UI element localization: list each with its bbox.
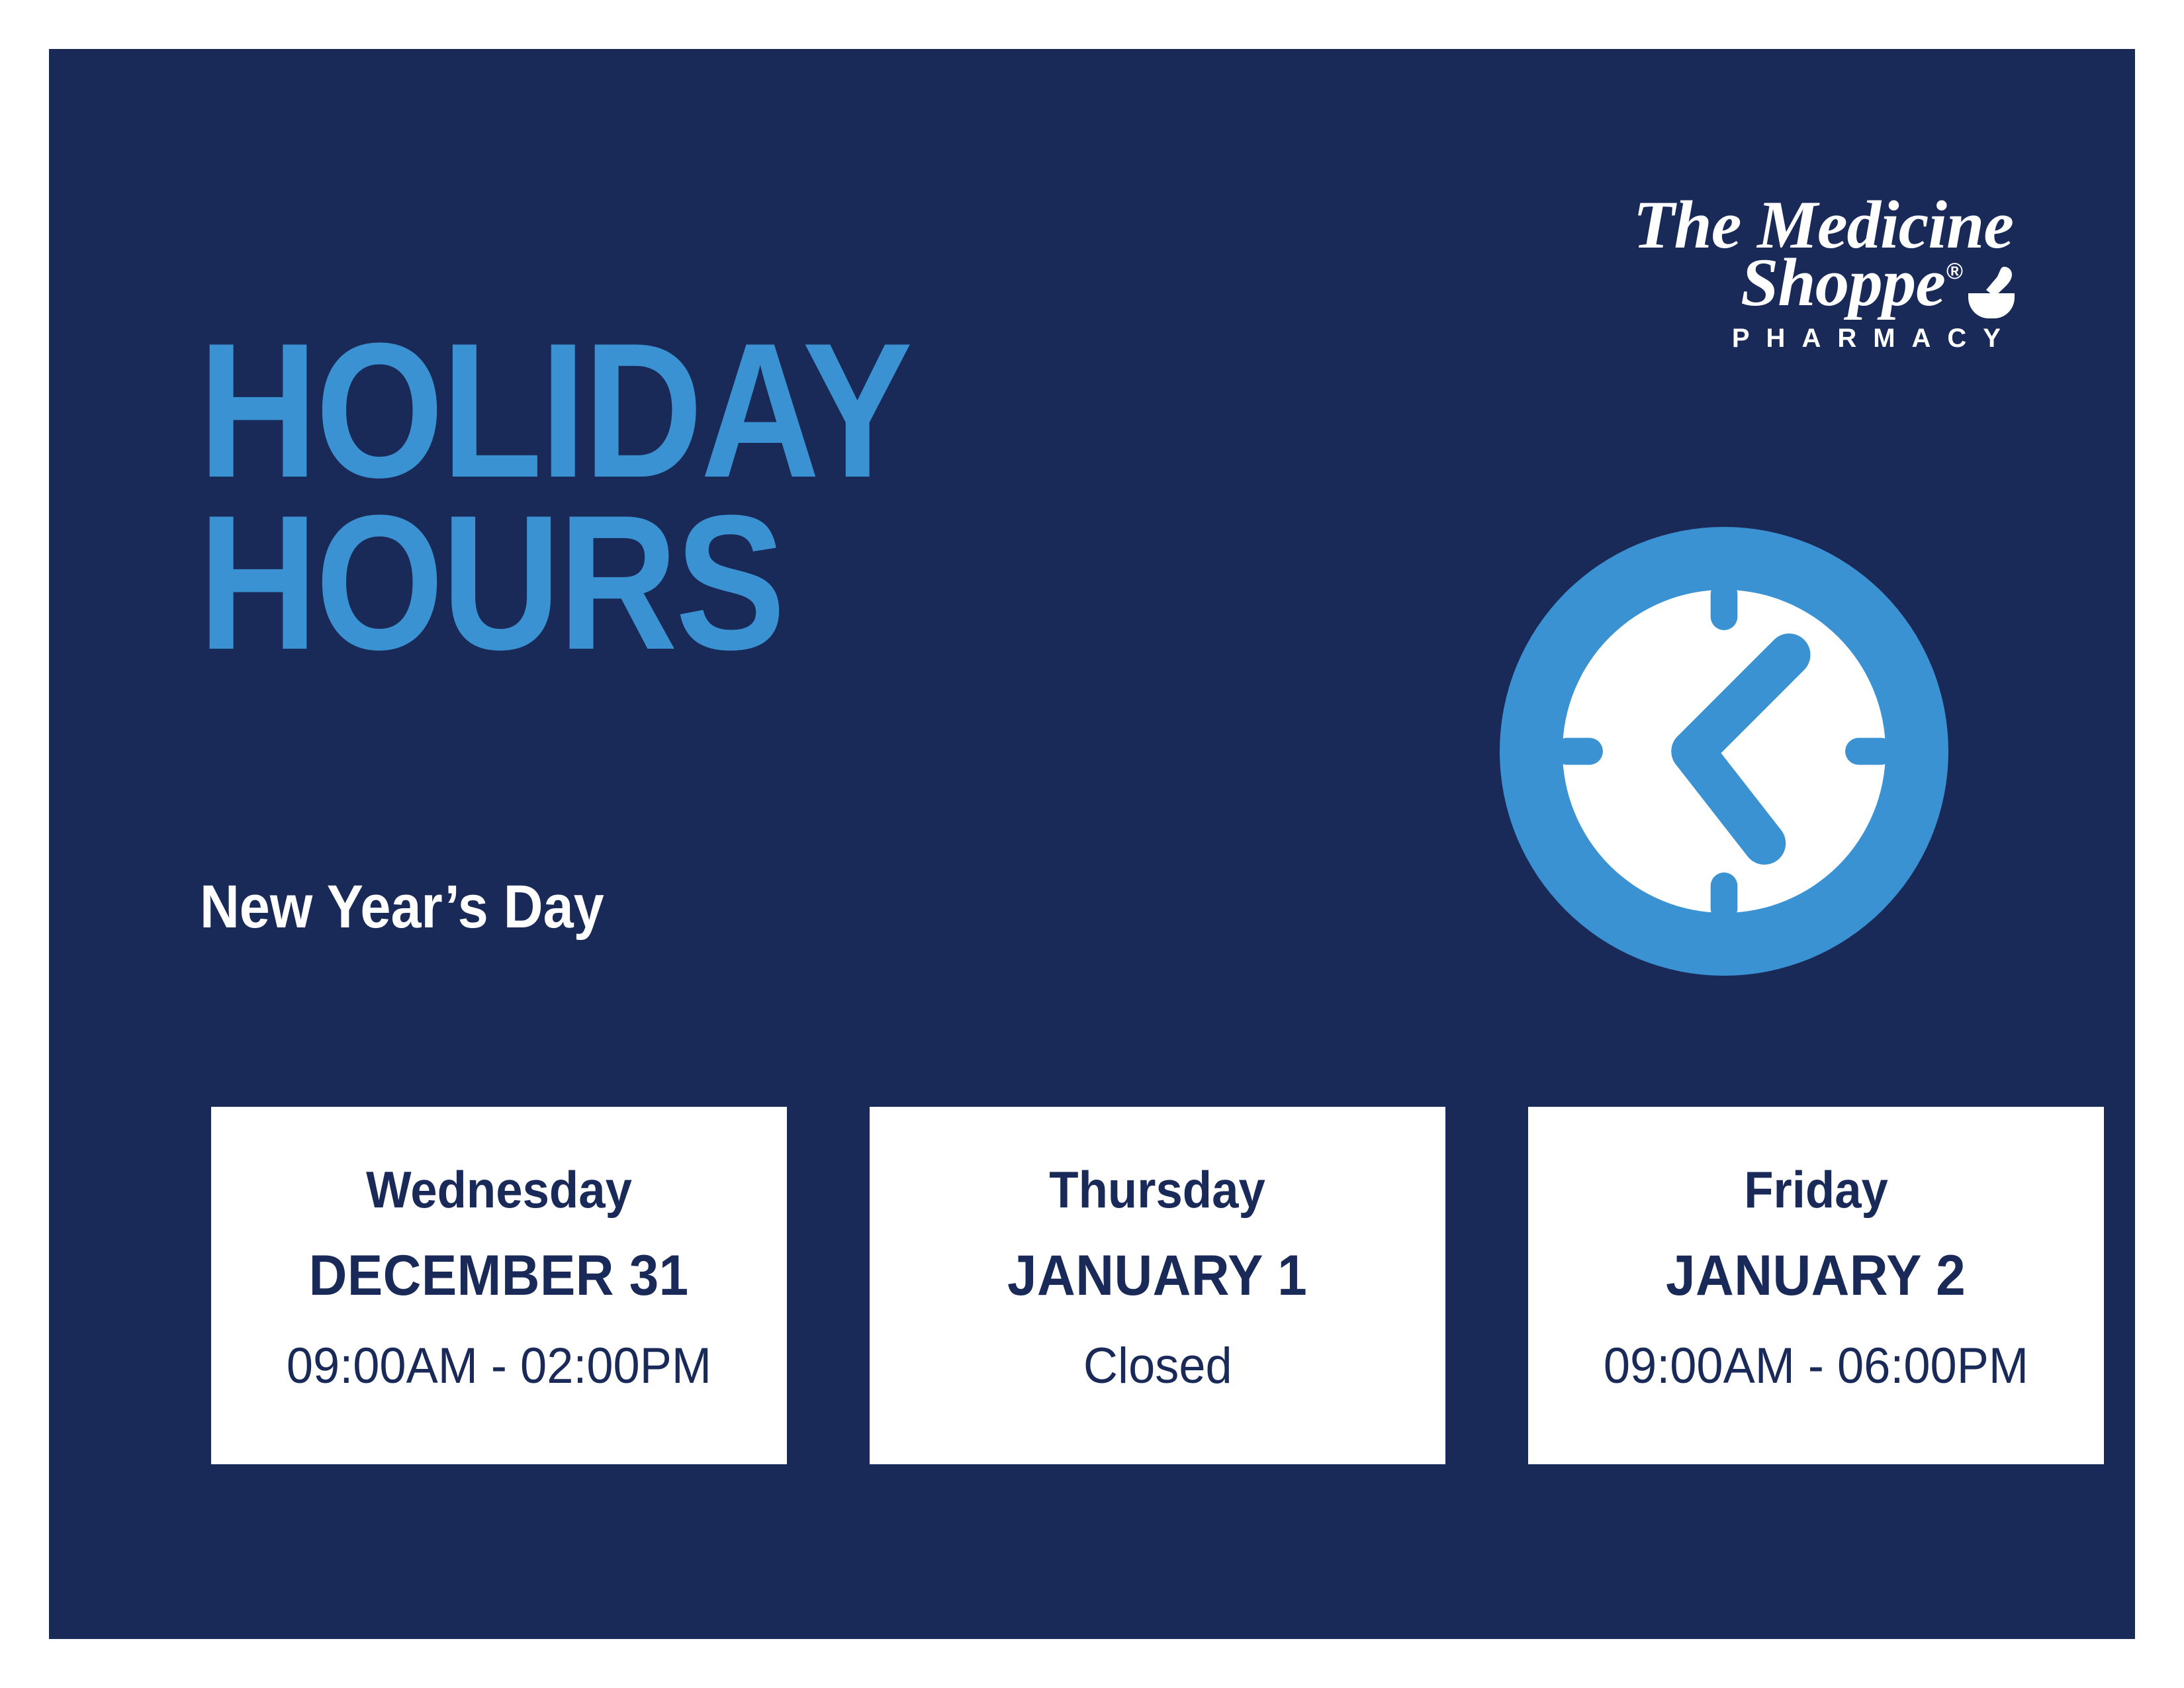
hours-card: Friday JANUARY 2 09:00AM - 06:00PM bbox=[1528, 1107, 2104, 1464]
page-subtitle: New Year’s Day bbox=[200, 876, 604, 937]
card-day-label: Wednesday bbox=[366, 1164, 632, 1215]
card-time-label: Closed bbox=[1083, 1341, 1232, 1391]
card-date-label: DECEMBER 31 bbox=[309, 1247, 689, 1304]
headline-line-holiday: HOLIDAY bbox=[199, 334, 1280, 487]
brand-script-line-2: Shoppe bbox=[1741, 249, 1945, 317]
brand-script-line-2-row: Shoppe ® bbox=[1554, 249, 2017, 317]
card-day-label: Thursday bbox=[1050, 1164, 1266, 1215]
brand-logo: The Medicine Shoppe ® PHARMACY bbox=[1554, 191, 2017, 352]
holiday-hours-poster: The Medicine Shoppe ® PHARMACY HOLIDAY H… bbox=[49, 49, 2135, 1639]
registered-trademark-icon: ® bbox=[1946, 260, 1963, 283]
hours-card: Thursday JANUARY 1 Closed bbox=[870, 1107, 1445, 1464]
page-title: HOLIDAY HOURS bbox=[199, 334, 1456, 659]
card-date-label: JANUARY 1 bbox=[1007, 1247, 1307, 1304]
hours-card-list: Wednesday DECEMBER 31 09:00AM - 02:00PM … bbox=[211, 1107, 2104, 1464]
clock-icon bbox=[1500, 527, 1948, 976]
brand-tagline: PHARMACY bbox=[1554, 325, 2017, 352]
headline-line-hours: HOURS bbox=[199, 506, 1280, 659]
mortar-and-pestle-icon bbox=[1966, 264, 2017, 321]
card-day-label: Friday bbox=[1744, 1164, 1888, 1215]
hours-card: Wednesday DECEMBER 31 09:00AM - 02:00PM bbox=[211, 1107, 787, 1464]
card-date-label: JANUARY 2 bbox=[1666, 1247, 1966, 1304]
card-time-label: 09:00AM - 02:00PM bbox=[287, 1341, 711, 1391]
card-time-label: 09:00AM - 06:00PM bbox=[1604, 1341, 2028, 1391]
